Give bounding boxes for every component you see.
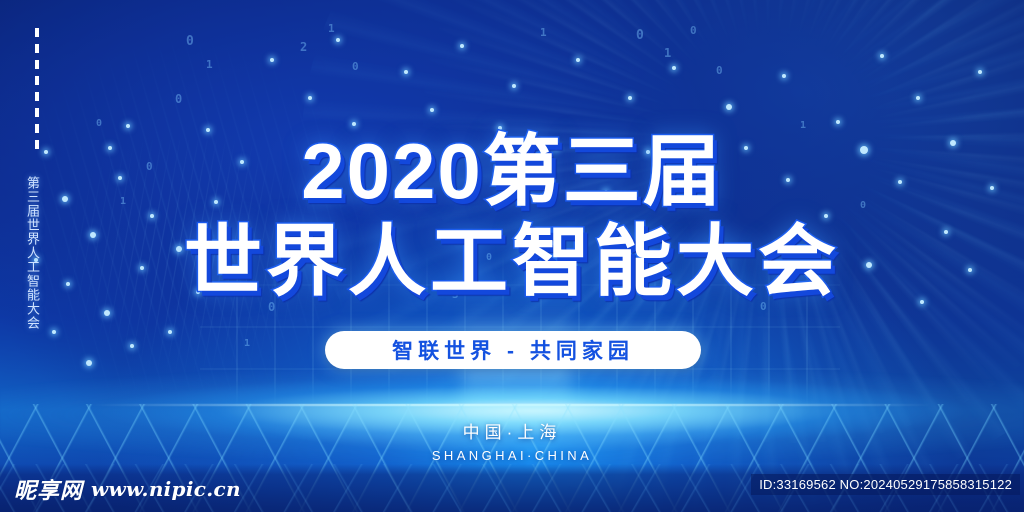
main-title: 2020第三届 世界人工智能大会	[0, 132, 1024, 300]
subtitle-pill: 智联世界 - 共同家园	[325, 331, 701, 369]
location-chinese: 中国·上海	[0, 418, 1024, 443]
poster-canvas: 010010210010010130201010 第三届世界人工智能大会 202…	[0, 0, 1024, 512]
asset-id-label: ID:33169562 NO:20240529175858315122	[751, 474, 1020, 495]
location-block: 中国·上海 SHANGHAI·CHINA	[0, 418, 1024, 463]
watermark-bar: 昵享网 www.nipic.cn ID:33169562 NO:20240529…	[0, 464, 1024, 512]
title-line-2: 世界人工智能大会	[0, 222, 1024, 300]
title-line-1: 2020第三届	[0, 132, 1024, 210]
location-english: SHANGHAI·CHINA	[0, 448, 1024, 463]
subtitle-text: 智联世界 - 共同家园	[392, 335, 634, 365]
nipic-logo: 昵享网	[14, 473, 83, 505]
watermark-brand: 昵享网 www.nipic.cn	[14, 473, 241, 505]
nipic-url: www.nipic.cn	[91, 477, 241, 501]
